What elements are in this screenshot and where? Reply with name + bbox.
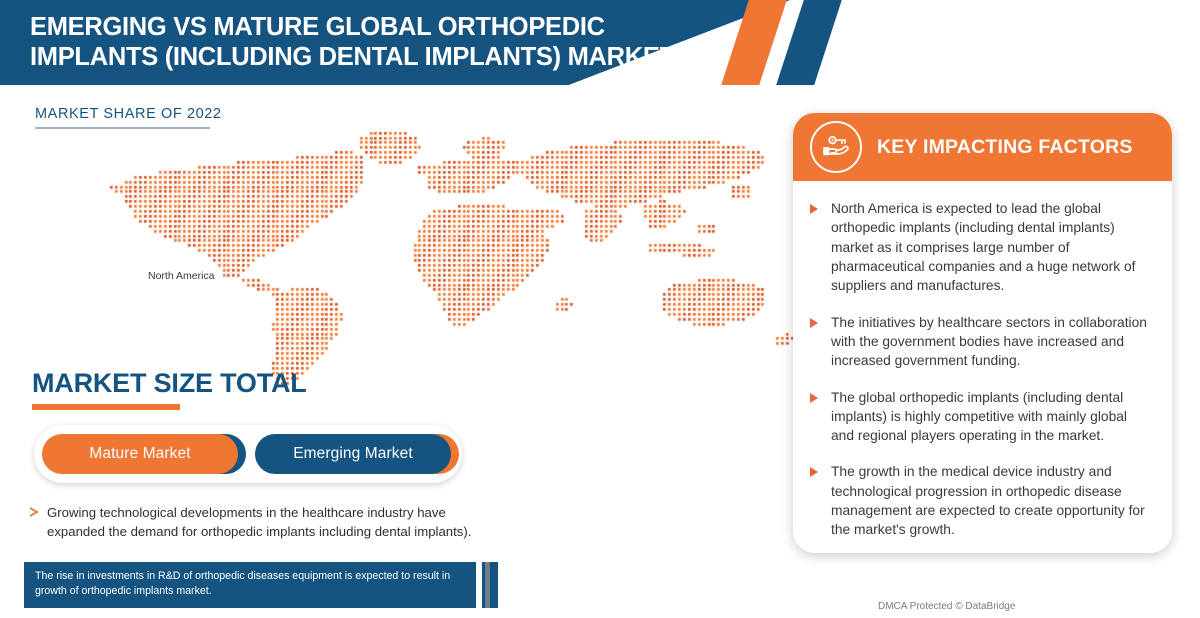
list-item-text: The initiatives by healthcare sectors in… <box>831 313 1152 371</box>
list-item-text: The global orthopedic implants (includin… <box>831 388 1152 446</box>
footer-banner: The rise in investments in R&D of orthop… <box>24 562 476 608</box>
arrow-bullet-icon <box>810 467 818 477</box>
market-size-note-text: Growing technological developments in th… <box>47 504 485 541</box>
key-impacting-factors-header: KEY IMPACTING FACTORS <box>793 113 1172 181</box>
footer-text: The rise in investments in R&D of orthop… <box>35 569 465 600</box>
market-size-section: MARKET SIZE TOTAL <box>32 370 307 410</box>
hand-holding-key-icon <box>810 121 862 173</box>
arrow-bullet-icon <box>810 393 818 403</box>
list-item: The initiatives by healthcare sectors in… <box>810 313 1152 371</box>
list-item: The growth in the medical device industr… <box>810 462 1152 539</box>
list-item-text: North America is expected to lead the gl… <box>831 199 1152 296</box>
triangle-bullet-icon <box>30 507 39 518</box>
list-item: The global orthopedic implants (includin… <box>810 388 1152 446</box>
legend-item-mature-market[interactable]: Mature Market <box>42 434 250 474</box>
market-size-underline <box>32 404 180 410</box>
market-size-title: MARKET SIZE TOTAL <box>32 370 307 397</box>
header-stripe-navy <box>776 0 842 85</box>
attribution-text: DMCA Protected © DataBridge <box>878 601 1015 612</box>
market-legend: Mature Market Emerging Market <box>34 425 462 483</box>
list-item-text: The growth in the medical device industr… <box>831 462 1152 539</box>
legend-emerging-label: Emerging Market <box>255 434 451 474</box>
infographic-page: Emerging vs Mature Global Orthopedic Imp… <box>0 0 1200 618</box>
arrow-bullet-icon <box>810 318 818 328</box>
key-impacting-factors-list: North America is expected to lead the gl… <box>793 181 1172 540</box>
map-label-north-america: North America <box>148 270 215 282</box>
arrow-bullet-icon <box>810 204 818 214</box>
page-title: Emerging vs Mature Global Orthopedic Imp… <box>30 13 720 73</box>
legend-item-emerging-market[interactable]: Emerging Market <box>255 434 463 474</box>
footer-accent-sheen <box>485 562 490 608</box>
market-size-note: Growing technological developments in th… <box>30 504 485 541</box>
world-map: North America <box>100 112 800 402</box>
list-item: North America is expected to lead the gl… <box>810 199 1152 296</box>
key-impacting-factors-card: KEY IMPACTING FACTORS North America is e… <box>793 113 1172 553</box>
legend-mature-label: Mature Market <box>42 434 238 474</box>
world-map-canvas <box>100 112 800 402</box>
key-impacting-factors-title: KEY IMPACTING FACTORS <box>877 136 1133 159</box>
